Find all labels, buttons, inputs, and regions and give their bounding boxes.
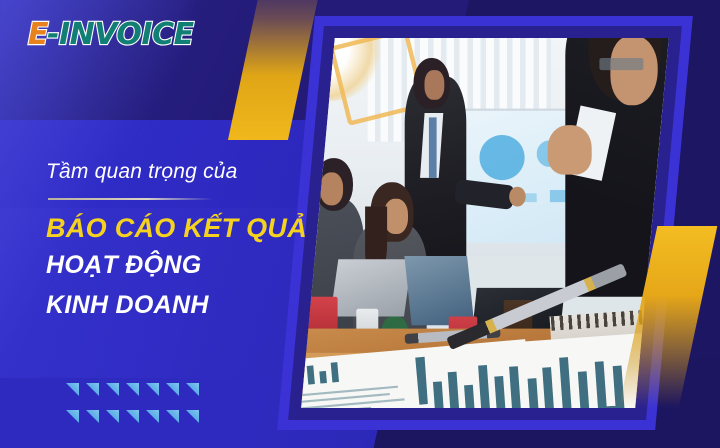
photo-presenter-tie — [428, 117, 436, 178]
triangle-decoration — [66, 383, 206, 430]
brand-logo[interactable]: E-INVOICE — [28, 20, 194, 50]
triangle-icon — [66, 410, 79, 423]
headline-line-3: KINH DOANH — [46, 291, 209, 320]
triangle-icon — [126, 410, 139, 423]
triangle-icon — [166, 383, 179, 396]
triangle-icon — [146, 410, 159, 423]
eyebrow-text: Tầm quan trọng của — [46, 160, 238, 184]
headline-line-1: BÁO CÁO KẾT QUẢ — [46, 213, 307, 244]
headline-line-2: HOẠT ĐỘNG — [46, 251, 201, 280]
photo-attendee-center-face — [384, 199, 408, 234]
photo-laptop — [404, 256, 474, 325]
triangle-icon — [106, 383, 119, 396]
triangle-icon — [86, 410, 99, 423]
triangle-icon — [126, 383, 139, 396]
triangle-icon — [106, 410, 119, 423]
promo-banner: E-INVOICE Tầm quan trọng của BÁO CÁO KẾT… — [0, 0, 720, 448]
triangle-icon — [86, 383, 99, 396]
meeting-photo — [301, 38, 669, 408]
brand-logo-wordmark: -INVOICE — [47, 20, 194, 50]
photo-presenter-face — [425, 70, 445, 100]
photo-attendee-hand — [547, 125, 591, 174]
photo-attendee-left-face — [320, 172, 344, 205]
triangle-icon — [66, 383, 79, 396]
divider-rule — [48, 198, 213, 200]
brand-logo-e: E — [28, 20, 48, 50]
photo-attendee-foreground-face — [610, 38, 658, 105]
triangle-icon — [166, 410, 179, 423]
triangle-icon — [186, 410, 199, 423]
photo-presenter-hand — [509, 186, 526, 206]
triangle-icon — [186, 383, 199, 396]
photo-attendee-glasses — [599, 58, 643, 70]
triangle-icon — [146, 383, 159, 396]
meeting-photo-content — [301, 38, 668, 408]
